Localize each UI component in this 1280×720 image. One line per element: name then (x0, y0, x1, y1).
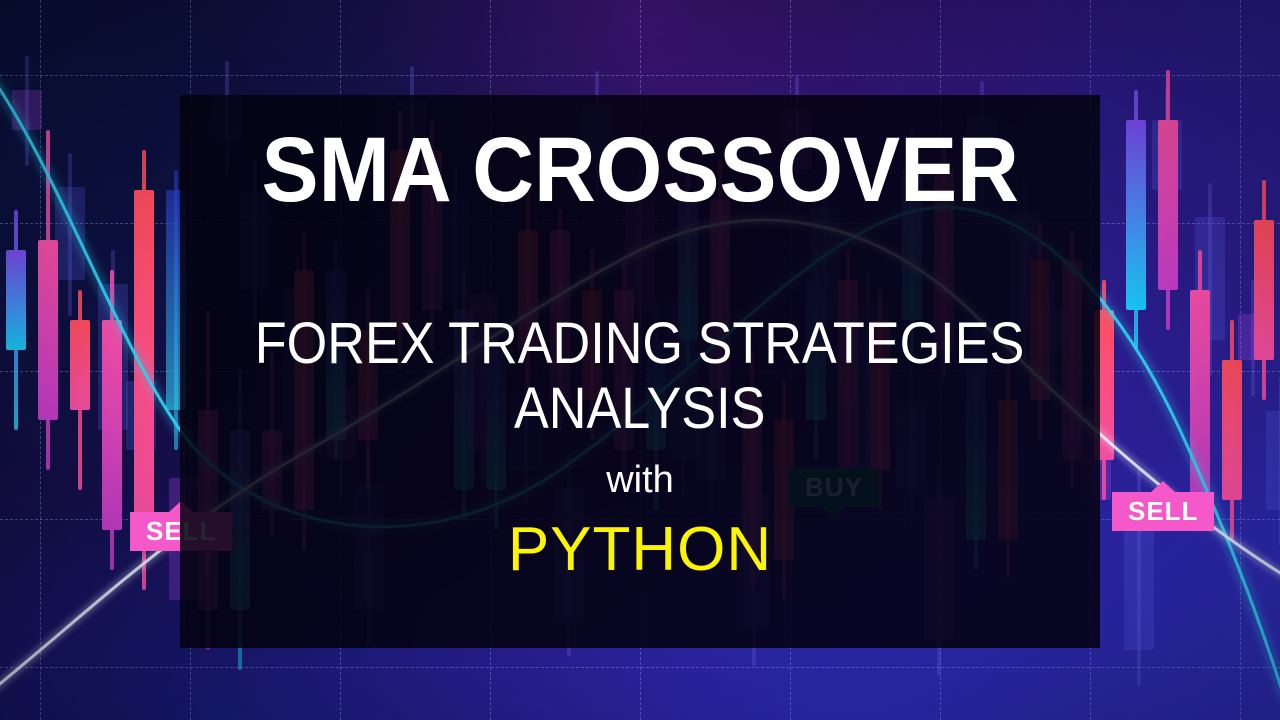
title-overlay-panel: SMA CROSSOVER FOREX TRADING STRATEGIES A… (180, 95, 1100, 648)
language-label: PYTHON (508, 516, 772, 584)
triangle-up-icon (1150, 481, 1176, 493)
slide-canvas: SELLBUYSELL SMA CROSSOVER FOREX TRADING … (0, 0, 1280, 720)
subtitle-line-2: ANALYSIS (514, 377, 765, 442)
signal-label: SELL (1112, 492, 1214, 531)
sell-signal-badge: SELL (1112, 492, 1214, 531)
page-title: SMA CROSSOVER (261, 121, 1018, 220)
with-label: with (606, 460, 674, 502)
subtitle-line-1: FOREX TRADING STRATEGIES (255, 312, 1025, 377)
